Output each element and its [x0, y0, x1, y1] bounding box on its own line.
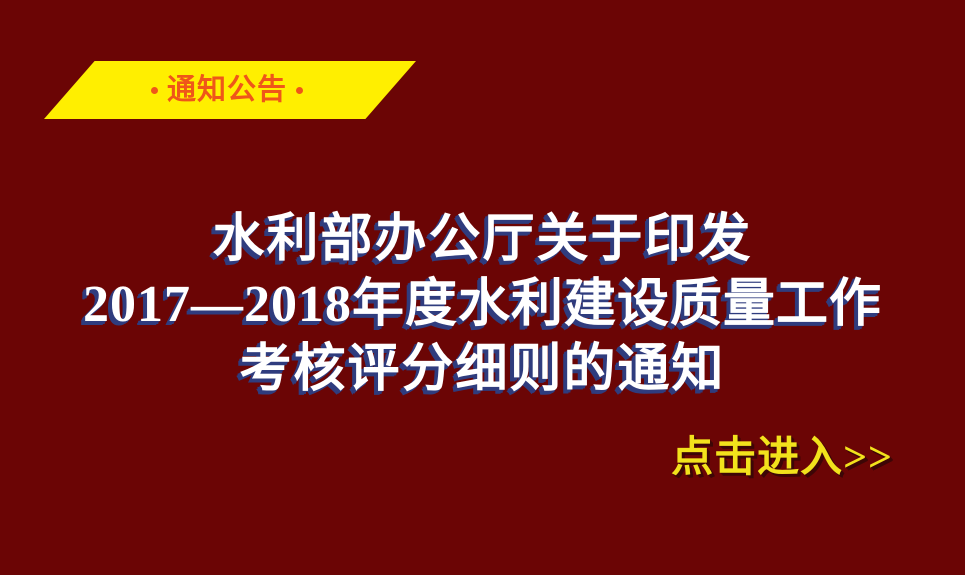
headline-line-3: 考核评分细则的通知 [0, 337, 965, 402]
ribbon-label-text: 通知公告 [167, 76, 287, 105]
notice-category-ribbon[interactable]: 通知公告 [44, 61, 416, 119]
headline-block: 水利部办公厅关于印发 2017—2018年度水利建设质量工作 考核评分细则的通知 [0, 207, 965, 402]
headline-line-2: 2017—2018年度水利建设质量工作 [0, 272, 965, 337]
enter-link[interactable]: 点击进入>> [671, 433, 893, 483]
notice-announcement-banner: 通知公告 水利部办公厅关于印发 2017—2018年度水利建设质量工作 考核评分… [0, 0, 965, 575]
ribbon-left-dot-icon [151, 87, 158, 94]
ribbon-label-group: 通知公告 [44, 61, 416, 119]
headline-line-1: 水利部办公厅关于印发 [0, 207, 965, 272]
ribbon-right-dot-icon [296, 87, 303, 94]
